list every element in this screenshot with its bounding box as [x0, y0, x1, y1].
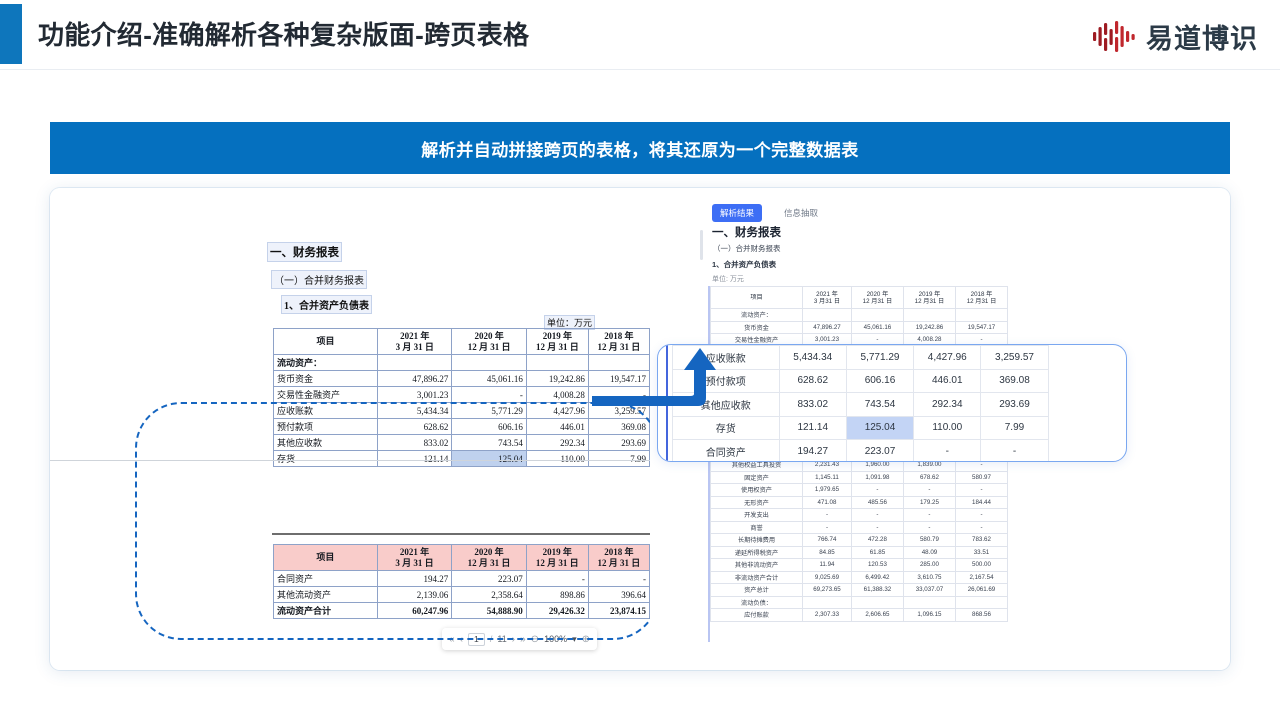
row-value: - [851, 521, 903, 534]
row-value: - [851, 484, 903, 497]
result-unit-note: 单位: 万元 [712, 274, 744, 284]
row-value: 69,273.65 [803, 584, 852, 597]
row-value: 2,307.33 [803, 609, 852, 622]
row-spacer [1008, 509, 1080, 522]
header-divider [0, 69, 1280, 70]
row-spacer [1008, 471, 1080, 484]
row-value: 868.56 [955, 609, 1007, 622]
th-2021-line1: 2021 年 [381, 331, 448, 342]
row-value [851, 309, 903, 322]
row-value: 1,145.11 [803, 471, 852, 484]
row-label: 固定资产 [711, 471, 803, 484]
th-2020-line1: 2020 年 [455, 331, 522, 342]
callout-row: 合同资产194.27223.07-- [673, 440, 1113, 463]
pdf-preview-pane[interactable]: 一、财务报表 （一）合并财务报表 1、合并资产负债表 单位：万元 项目 2021… [50, 188, 650, 670]
row-value [378, 355, 452, 371]
callout-row-value: 743.54 [846, 393, 913, 417]
cross-page-selection-box [135, 402, 650, 640]
row-value [803, 596, 852, 609]
row-label: 货币资金 [711, 321, 803, 334]
row-value [903, 596, 955, 609]
table-row: 流动资产： [711, 309, 1080, 322]
row-value: - [851, 509, 903, 522]
row-value: - [955, 521, 1007, 534]
callout-row-value: - [981, 440, 1048, 463]
callout-row-value: 3,259.57 [981, 346, 1048, 370]
row-value: 19,242.86 [903, 321, 955, 334]
callout-row: 存货121.14125.04110.007.99 [673, 416, 1113, 440]
callout-row-value: 628.62 [779, 369, 846, 393]
result-tabs[interactable]: 解析结果 信息抽取 [712, 204, 826, 222]
row-value: 184.44 [955, 496, 1007, 509]
callout-row-value: 293.69 [981, 393, 1048, 417]
row-value: 4,008.28 [526, 387, 588, 403]
row-value: 1,091.98 [851, 471, 903, 484]
callout-row-value: 194.27 [779, 440, 846, 463]
table-row: 其他非流动资产11.94120.53285.00500.00 [711, 559, 1080, 572]
logo-text: 易道博识 [1146, 17, 1258, 56]
row-value: - [803, 521, 852, 534]
table-row: 长期待摊费用766.74472.28580.79783.62 [711, 534, 1080, 547]
callout-row-value: 446.01 [914, 369, 981, 393]
row-spacer [1008, 596, 1080, 609]
row-label: 商誉 [711, 521, 803, 534]
table-header-row: 项目2021 年3 月31 日2020 年12 月31 日2019 年12 月3… [711, 287, 1080, 309]
row-value: 472.28 [851, 534, 903, 547]
row-value: 120.53 [851, 559, 903, 572]
row-spacer [1008, 609, 1080, 622]
callout-row-value: - [914, 440, 981, 463]
row-label: 递延所得税资产 [711, 546, 803, 559]
row-label: 交易性金融资产 [274, 387, 378, 403]
th-col: 2019 年12 月31 日 [903, 287, 955, 309]
callout-row-value: 110.00 [914, 416, 981, 440]
table-row: 递延所得税资产84.8561.8548.0933.51 [711, 546, 1080, 559]
th-col: 2018 年12 月31 日 [955, 287, 1007, 309]
pdf-heading-1: 一、财务报表 [268, 243, 341, 261]
th-item: 项目 [274, 329, 378, 355]
row-value: 11.94 [803, 559, 852, 572]
callout-row-value: 223.07 [846, 440, 913, 463]
row-label: 资产总计 [711, 584, 803, 597]
callout-row-spacer [1048, 440, 1112, 463]
row-spacer [1008, 571, 1080, 584]
callout-row-value: 292.34 [914, 393, 981, 417]
callout-table: 应收账款5,434.345,771.294,427.963,259.57预付款项… [672, 345, 1112, 462]
row-value [452, 355, 526, 371]
row-spacer [1008, 584, 1080, 597]
result-heading-2: （一）合并财务报表 [713, 243, 781, 254]
row-spacer [1008, 484, 1080, 497]
brand-logo: 易道博识 [1091, 17, 1258, 56]
section-banner: 解析并自动拼接跨页的表格，将其还原为一个完整数据表 [50, 122, 1230, 174]
th-2020: 2020 年 12 月 31 日 [452, 329, 526, 355]
row-value: 19,242.86 [526, 371, 588, 387]
row-value: 580.79 [903, 534, 955, 547]
th-2019-line2: 12 月 31 日 [530, 342, 585, 353]
row-spacer [1008, 534, 1080, 547]
callout-row: 预付款项628.62606.16446.01369.08 [673, 369, 1113, 393]
row-value: 783.62 [955, 534, 1007, 547]
merge-arrow-icon [590, 340, 730, 470]
row-value [526, 355, 588, 371]
callout-row-value: 833.02 [779, 393, 846, 417]
result-scrollbar[interactable] [700, 230, 703, 260]
slide-page: 功能介绍-准确解析各种复杂版面-跨页表格 易道博识 [0, 0, 1280, 720]
row-value: 1,979.65 [803, 484, 852, 497]
result-heading-3: 1、合并资产负债表 [712, 259, 776, 270]
row-value: 61,388.32 [851, 584, 903, 597]
row-value: 84.85 [803, 546, 852, 559]
row-value: 47,896.27 [803, 321, 852, 334]
th-item: 项目 [711, 287, 803, 309]
table-row: 无形资产471.08485.56179.25184.44 [711, 496, 1080, 509]
row-value: - [803, 509, 852, 522]
row-value: 179.25 [903, 496, 955, 509]
row-value: 61.85 [851, 546, 903, 559]
row-label: 非流动资产合计 [711, 571, 803, 584]
row-value: 33.51 [955, 546, 1007, 559]
callout-row: 其他应收款833.02743.54292.34293.69 [673, 393, 1113, 417]
table-row: 使用权资产1,979.65--- [711, 484, 1080, 497]
row-label: 货币资金 [274, 371, 378, 387]
row-label: 流动负债： [711, 596, 803, 609]
callout-row-value: 369.08 [981, 369, 1048, 393]
table-row: 固定资产1,145.111,091.98678.62580.97 [711, 471, 1080, 484]
row-label: 长期待摊费用 [711, 534, 803, 547]
result-heading-1: 一、财务报表 [712, 224, 781, 240]
row-value: 3,001.23 [378, 387, 452, 403]
callout-row-spacer [1048, 369, 1112, 393]
th-spacer [1008, 287, 1080, 309]
row-value: 471.08 [803, 496, 852, 509]
row-spacer [1008, 309, 1080, 322]
tab-info-extraction[interactable]: 信息抽取 [776, 204, 826, 222]
callout-row: 应收账款5,434.345,771.294,427.963,259.57 [673, 346, 1113, 370]
row-label: 开发支出 [711, 509, 803, 522]
banner-text: 解析并自动拼接跨页的表格，将其还原为一个完整数据表 [421, 136, 859, 161]
th-2021: 2021 年 3 月 31 日 [378, 329, 452, 355]
row-label: 流动资产： [274, 355, 378, 371]
row-spacer [1008, 559, 1080, 572]
callout-row-value: 4,427.96 [914, 346, 981, 370]
logo-bars-icon [1091, 20, 1137, 54]
table-row: 开发支出---- [711, 509, 1080, 522]
th-col: 2021 年3 月31 日 [803, 287, 852, 309]
row-label: 使用权资产 [711, 484, 803, 497]
row-value: 485.56 [851, 496, 903, 509]
callout-row-value: 121.14 [779, 416, 846, 440]
row-value: 48.09 [903, 546, 955, 559]
table-row: 流动负债： [711, 596, 1080, 609]
row-value: - [452, 387, 526, 403]
th-2019-line1: 2019 年 [530, 331, 585, 342]
callout-row-value: 5,434.34 [779, 346, 846, 370]
th-2019: 2019 年 12 月 31 日 [526, 329, 588, 355]
row-value: - [903, 521, 955, 534]
callout-row-value: 5,771.29 [846, 346, 913, 370]
callout-row-spacer [1048, 416, 1112, 440]
row-value: 9,025.69 [803, 571, 852, 584]
row-value: 33,037.07 [903, 584, 955, 597]
row-value: 500.00 [955, 559, 1007, 572]
table-row: 货币资金47,896.2745,061.1619,242.8619,547.17 [711, 321, 1080, 334]
row-value: 3,610.75 [903, 571, 955, 584]
row-value: 1,096.15 [903, 609, 955, 622]
row-value: 285.00 [903, 559, 955, 572]
callout-row-value: 606.16 [846, 369, 913, 393]
callout-row-value: 7.99 [981, 416, 1048, 440]
row-label: 流动资产： [711, 309, 803, 322]
slide-header: 功能介绍-准确解析各种复杂版面-跨页表格 易道博识 [0, 0, 1280, 69]
row-value [851, 596, 903, 609]
tab-parse-result[interactable]: 解析结果 [712, 204, 762, 222]
table-row: 商誉---- [711, 521, 1080, 534]
row-value: 580.97 [955, 471, 1007, 484]
row-value: - [955, 509, 1007, 522]
table-row: 资产总计69,273.6561,388.3233,037.0726,061.69 [711, 584, 1080, 597]
table-row: 非流动资产合计9,025.696,499.423,610.752,167.54 [711, 571, 1080, 584]
row-value [803, 309, 852, 322]
page-title: 功能介绍-准确解析各种复杂版面-跨页表格 [38, 15, 529, 52]
row-value: 45,061.16 [452, 371, 526, 387]
row-value [955, 309, 1007, 322]
row-value: 19,547.17 [955, 321, 1007, 334]
callout-row-value: 125.04 [846, 416, 913, 440]
row-value: 45,061.16 [851, 321, 903, 334]
row-value: 6,499.42 [851, 571, 903, 584]
row-value: - [903, 484, 955, 497]
pdf-heading-3: 1、合并资产负债表 [282, 296, 371, 313]
row-spacer [1008, 496, 1080, 509]
row-spacer [1008, 546, 1080, 559]
row-value: 678.62 [903, 471, 955, 484]
row-value: 2,167.54 [955, 571, 1007, 584]
th-col: 2020 年12 月31 日 [851, 287, 903, 309]
row-value: 47,896.27 [378, 371, 452, 387]
row-value [955, 596, 1007, 609]
th-2020-line2: 12 月 31 日 [455, 342, 522, 353]
table-row: 应付账款2,307.332,606.651,096.15868.56 [711, 609, 1080, 622]
pdf-heading-2: （一）合并财务报表 [272, 271, 366, 288]
row-value: - [903, 509, 955, 522]
row-label: 其他非流动资产 [711, 559, 803, 572]
row-value: 26,061.69 [955, 584, 1007, 597]
row-spacer [1008, 521, 1080, 534]
row-label: 无形资产 [711, 496, 803, 509]
row-label: 应付账款 [711, 609, 803, 622]
row-value: 2,606.65 [851, 609, 903, 622]
row-value: - [955, 484, 1007, 497]
row-spacer [1008, 321, 1080, 334]
header-accent-bar [0, 4, 22, 64]
th-2021-line2: 3 月 31 日 [381, 342, 448, 353]
callout-row-spacer [1048, 393, 1112, 417]
row-value: 766.74 [803, 534, 852, 547]
callout-row-spacer [1048, 346, 1112, 370]
row-value [903, 309, 955, 322]
